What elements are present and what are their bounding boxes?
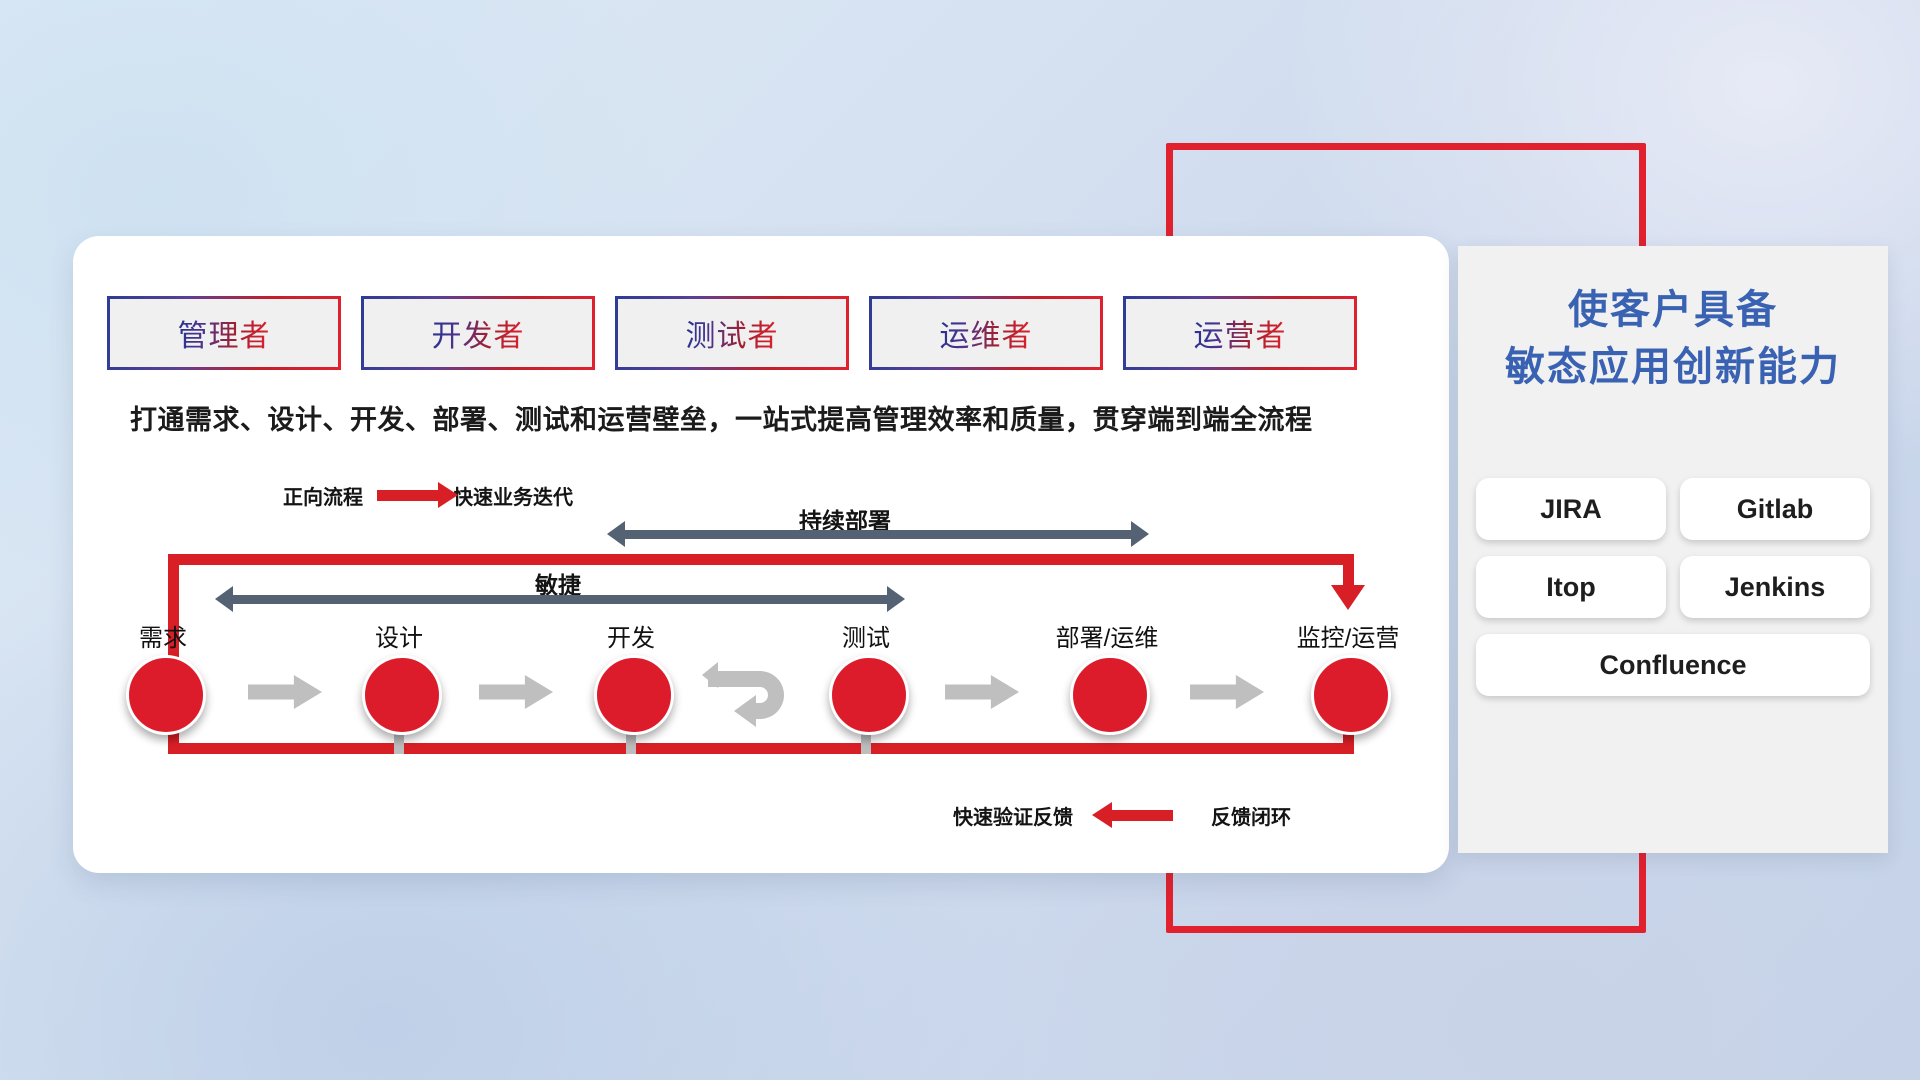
red-loop-right-top	[1343, 554, 1354, 587]
bracket-mask-top	[1173, 150, 1625, 250]
value-panel-title-line2: 敏态应用创新能力	[1458, 339, 1888, 396]
stage-node-design[interactable]	[362, 655, 442, 735]
role-chip-label: 测试者	[686, 311, 779, 355]
stage-node-monitor-operations[interactable]	[1311, 655, 1391, 735]
tool-chip-list: JIRA Gitlab Itop Jenkins Confluence	[1476, 478, 1870, 696]
feedback-loop-legend: 快速验证反馈 反馈闭环	[953, 801, 1291, 830]
forward-arrow-icon	[377, 490, 439, 501]
tool-chip-jira[interactable]: JIRA	[1476, 478, 1666, 540]
stage-label-develop: 开发	[607, 618, 655, 653]
agile-span-arrow	[232, 595, 888, 604]
role-chip-label: 开发者	[432, 311, 525, 355]
role-chip-label: 运营者	[1194, 311, 1287, 355]
red-loop-top	[168, 554, 1354, 565]
role-chip-row: 管理者 开发者 测试者 运维者 运营者	[110, 299, 1354, 367]
stage-label-deploy-ops: 部署/运维	[1056, 618, 1159, 653]
slide-canvas: 管理者 开发者 测试者 运维者 运营者 打通需求、设计、开发、部署、测试和运营壁…	[0, 0, 1920, 1080]
role-chip-developer[interactable]: 开发者	[364, 299, 592, 367]
description-text: 打通需求、设计、开发、部署、测试和运营壁垒，一站式提高管理效率和质量，贯穿端到端…	[130, 398, 1440, 437]
stage-node-requirement[interactable]	[126, 655, 206, 735]
forward-flow-label-left: 正向流程	[283, 481, 363, 510]
value-panel-title: 使客户具备 敏态应用创新能力	[1458, 282, 1888, 396]
stage-node-deploy-ops[interactable]	[1070, 655, 1150, 735]
forward-flow-label-right: 快速业务迭代	[453, 481, 573, 510]
stage-node-develop[interactable]	[594, 655, 674, 735]
stage-label-test: 测试	[842, 618, 890, 653]
feedback-label-right: 反馈闭环	[1211, 801, 1291, 830]
role-chip-tester[interactable]: 测试者	[618, 299, 846, 367]
stage-node-test[interactable]	[829, 655, 909, 735]
role-chip-manager[interactable]: 管理者	[110, 299, 338, 367]
role-chip-label: 运维者	[940, 311, 1033, 355]
value-panel: 使客户具备 敏态应用创新能力 JIRA Gitlab Itop Jenkins …	[1458, 246, 1888, 853]
stage-label-requirement: 需求	[139, 618, 187, 653]
role-chip-operations[interactable]: 运营者	[1126, 299, 1354, 367]
tool-chip-jenkins[interactable]: Jenkins	[1680, 556, 1870, 618]
stage-label-monitor-operations: 监控/运营	[1297, 618, 1400, 653]
red-loop-bottom	[168, 743, 1354, 754]
role-chip-label: 管理者	[178, 311, 271, 355]
tool-chip-itop[interactable]: Itop	[1476, 556, 1666, 618]
stage-label-design: 设计	[375, 618, 423, 653]
value-panel-title-line1: 使客户具备	[1458, 282, 1888, 339]
continuous-deploy-span-arrow	[624, 530, 1132, 539]
feedback-arrow-icon	[1111, 810, 1173, 821]
feedback-label-left: 快速验证反馈	[953, 801, 1073, 830]
role-chip-ops[interactable]: 运维者	[872, 299, 1100, 367]
tool-chip-confluence[interactable]: Confluence	[1476, 634, 1870, 696]
tool-chip-gitlab[interactable]: Gitlab	[1680, 478, 1870, 540]
iteration-loop-arrow-icon	[702, 657, 812, 737]
red-arrow-down-icon	[1331, 585, 1365, 610]
forward-flow-legend: 正向流程 快速业务迭代	[283, 481, 573, 510]
